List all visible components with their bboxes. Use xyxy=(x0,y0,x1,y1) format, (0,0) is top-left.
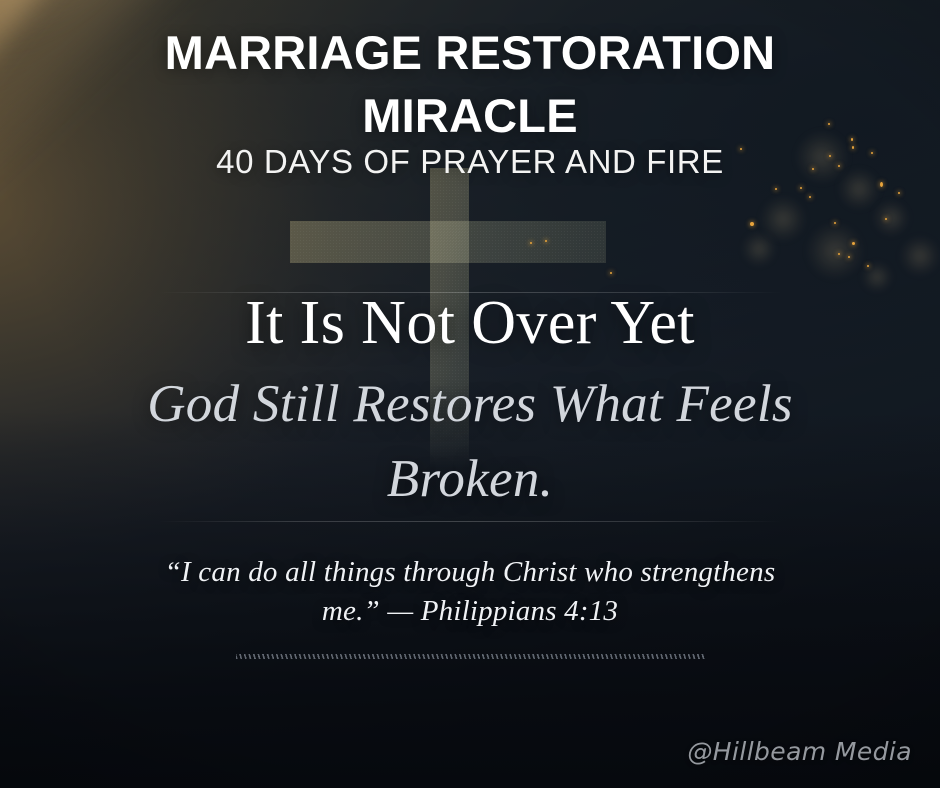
poster-subheadline: God Still Restores What Feels Broken. xyxy=(84,367,856,518)
poster-subtitle: 40 DAYS OF PRAYER AND FIRE xyxy=(0,143,940,181)
watermark-credit: @Hillbeam Media xyxy=(687,737,912,766)
poster-headline: It Is Not Over Yet xyxy=(0,288,940,359)
title-line-2: MIRACLE xyxy=(50,85,890,148)
dashed-ornament-divider xyxy=(236,654,706,659)
scripture-verse: “I can do all things through Christ who … xyxy=(150,553,790,631)
divider-bottom xyxy=(158,521,782,522)
poster-canvas: MARRIAGE RESTORATION MIRACLE 40 DAYS OF … xyxy=(0,0,940,788)
title-line-1: MARRIAGE RESTORATION xyxy=(50,22,890,85)
poster-title: MARRIAGE RESTORATION MIRACLE xyxy=(0,22,940,148)
